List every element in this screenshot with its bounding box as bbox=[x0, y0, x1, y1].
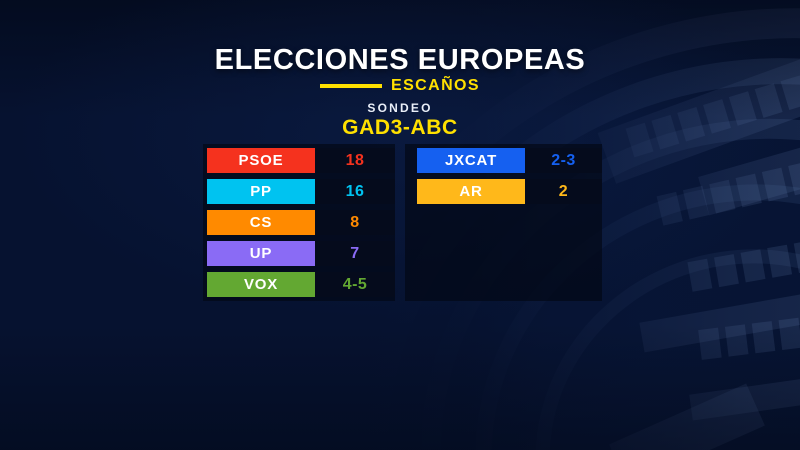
results-column-right: JXCAT 2-3 AR 2 bbox=[405, 144, 602, 301]
table-row: AR 2 bbox=[405, 179, 602, 204]
seat-value-up: 7 bbox=[315, 241, 395, 266]
poll-kicker: SONDEO bbox=[0, 101, 800, 115]
seat-value-vox: 4-5 bbox=[315, 272, 395, 297]
table-row: UP 7 bbox=[203, 241, 395, 266]
broadcast-graphic: ELECCIONES EUROPEAS ESCAÑOS SONDEO GAD3-… bbox=[0, 0, 800, 450]
pollster-name: GAD3-ABC bbox=[0, 116, 800, 140]
seat-value-pp: 16 bbox=[315, 179, 395, 204]
seat-value-cs: 8 bbox=[315, 210, 395, 235]
party-label-pp: PP bbox=[207, 179, 315, 204]
results-column-left: PSOE 18 PP 16 CS 8 UP 7 VOX 4-5 bbox=[203, 144, 395, 301]
table-row: CS 8 bbox=[203, 210, 395, 235]
table-row: VOX 4-5 bbox=[203, 272, 395, 297]
subtitle-label: ESCAÑOS bbox=[391, 78, 480, 94]
results-table: PSOE 18 PP 16 CS 8 UP 7 VOX 4-5 bbox=[203, 144, 602, 301]
party-label-vox: VOX bbox=[207, 272, 315, 297]
party-label-jxcat: JXCAT bbox=[417, 148, 525, 173]
party-label-psoe: PSOE bbox=[207, 148, 315, 173]
party-label-cs: CS bbox=[207, 210, 315, 235]
seat-value-jxcat: 2-3 bbox=[525, 148, 602, 173]
table-row: PSOE 18 bbox=[203, 148, 395, 173]
table-row: PP 16 bbox=[203, 179, 395, 204]
table-row: JXCAT 2-3 bbox=[405, 148, 602, 173]
seat-value-psoe: 18 bbox=[315, 148, 395, 173]
party-label-ar: AR bbox=[417, 179, 525, 204]
party-label-up: UP bbox=[207, 241, 315, 266]
seat-value-ar: 2 bbox=[525, 179, 602, 204]
accent-rule bbox=[320, 84, 382, 88]
subtitle-row: ESCAÑOS bbox=[0, 78, 800, 94]
page-title: ELECCIONES EUROPEAS bbox=[0, 44, 800, 77]
